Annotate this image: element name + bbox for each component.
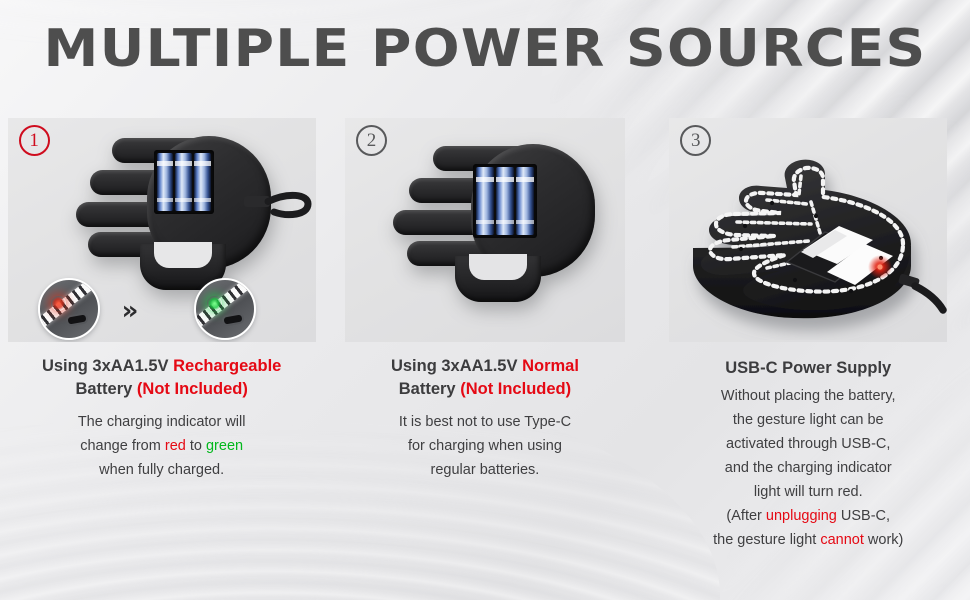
screw-dot — [770, 201, 774, 205]
panel-row: 1 — [0, 118, 970, 588]
panel-3-heading: USB-C Power Supply — [719, 357, 897, 380]
panel-2-image: 2 — [345, 118, 625, 342]
panel-3-body-line7a: the gesture light — [713, 532, 820, 548]
thumb — [455, 256, 541, 302]
panel-2-heading: Using 3xAA1.5V Normal Battery (Not Inclu… — [385, 355, 585, 401]
panel-1-body-line2c: to — [186, 438, 206, 454]
badge-number-2: 2 — [356, 125, 387, 156]
red-indicator-core — [878, 264, 883, 269]
panel-3-body-line4: and the charging indicator — [725, 460, 892, 476]
panel-3-body-unplugging: unplugging — [766, 508, 837, 524]
aa-battery — [496, 167, 514, 235]
screw-dot — [743, 224, 747, 228]
usb-c-cable-icon — [244, 182, 316, 226]
panel-2: 2 — [323, 118, 646, 588]
inset-green-indicator — [194, 278, 256, 340]
red-led-glow — [51, 296, 66, 311]
panel-3-image: 3 — [669, 118, 947, 342]
usb-c-port-icon — [221, 312, 245, 327]
panel-2-body-line1: It is best not to use Type-C — [399, 414, 571, 430]
panel-2-body-line3: regular batteries. — [431, 462, 540, 478]
panel-2-heading-line1-plain: Using 3xAA1.5V — [391, 357, 522, 375]
panel-1-body-line2a: change from — [80, 438, 165, 454]
panel-3: 3 — [647, 118, 970, 588]
panel-1-body-red-word: red — [165, 438, 186, 454]
panel-2-body: It is best not to use Type-C for chargin… — [389, 410, 581, 482]
hand-body-2 — [383, 136, 595, 304]
aa-battery — [476, 167, 494, 235]
usb-c-port-icon — [65, 312, 89, 327]
angled-led-hand-svg — [675, 140, 947, 340]
panel-1-heading-line1-plain: Using 3xAA1.5V — [42, 357, 173, 375]
panel-2-body-line2: for charging when using — [408, 438, 562, 454]
panel-1-body: The charging indicator will change from … — [68, 410, 256, 482]
panel-3-body-line7c: work) — [864, 532, 903, 548]
panel-1-image: 1 — [8, 118, 316, 342]
infographic-page: MULTIPLE POWER SOURCES 1 — [0, 0, 970, 600]
hand-body-1 — [66, 128, 271, 288]
panel-3-body-line6a: (After — [726, 508, 765, 524]
inset-red-indicator — [38, 278, 100, 340]
panel-3-body-line6c: USB-C, — [837, 508, 890, 524]
aa-battery — [157, 153, 174, 211]
aa-battery — [516, 167, 534, 235]
battery-compartment-2 — [473, 164, 537, 238]
panel-3-body-cannot: cannot — [820, 532, 864, 548]
panel-2-heading-highlight: Normal — [522, 357, 579, 375]
screw-dot — [849, 289, 853, 293]
panel-3-body-line1: Without placing the battery, — [721, 388, 896, 404]
panel-1: 1 — [0, 118, 323, 588]
screw-dot — [793, 278, 797, 282]
badge-number-1: 1 — [19, 125, 50, 156]
screw-dot — [739, 247, 743, 251]
panel-3-body-line2: the gesture light can be — [733, 412, 884, 428]
transition-arrow-icon: » — [122, 298, 139, 324]
usb-c-cable-icon — [898, 273, 943, 310]
green-led-glow — [207, 296, 222, 311]
aa-battery — [194, 153, 211, 211]
hand-device-illustration-2 — [345, 118, 625, 342]
panel-3-body-line3: activated through USB-C, — [726, 436, 890, 452]
panel-1-body-green-word: green — [206, 438, 243, 454]
hand-device-illustration-3 — [669, 118, 947, 342]
led-strip-thumb — [799, 176, 801, 194]
panel-3-body-line5: light will turn red. — [754, 484, 863, 500]
panel-1-heading-not-included: (Not Included) — [137, 380, 248, 398]
panel-1-body-line3: when fully charged. — [99, 462, 224, 478]
panel-1-body-line1: The charging indicator will — [78, 414, 246, 430]
panel-1-heading-highlight: Rechargeable — [173, 357, 281, 375]
aa-battery — [175, 153, 192, 211]
panel-1-heading: Using 3xAA1.5V Rechargeable Battery (Not… — [36, 355, 287, 401]
panel-2-heading-not-included: (Not Included) — [460, 380, 571, 398]
panel-1-heading-line2-plain: Battery — [75, 380, 136, 398]
page-title: MULTIPLE POWER SOURCES — [0, 18, 970, 80]
panel-3-body: Without placing the battery, the gesture… — [703, 384, 913, 552]
battery-compartment-1 — [154, 150, 214, 214]
panel-2-heading-line2-plain: Battery — [399, 380, 460, 398]
screw-dot — [814, 214, 818, 218]
